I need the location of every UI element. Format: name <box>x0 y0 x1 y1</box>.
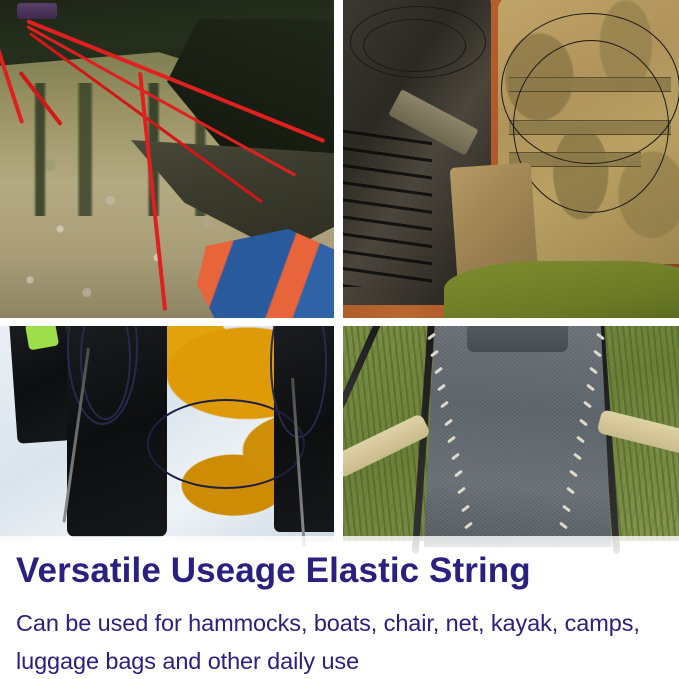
caption-headline: Versatile Useage Elastic String <box>16 552 663 590</box>
bungee-cord <box>363 19 466 72</box>
climbing-rope <box>147 399 305 489</box>
photo-hammock-tarp <box>0 0 334 318</box>
grid-gutter-horizontal <box>0 318 679 326</box>
photo-mountaineers-rope-image <box>0 326 334 541</box>
chair-headrest <box>467 326 568 352</box>
photo-tactical-bags <box>343 0 679 318</box>
caption-body-line-1: Can be used for hammocks, boats, chair, … <box>16 604 663 642</box>
bungee-cord <box>513 40 669 213</box>
cord-anchor-hardware <box>17 3 57 19</box>
photo-zero-gravity-chair-image <box>343 326 679 541</box>
caption-body: Can be used for hammocks, boats, chair, … <box>16 604 663 679</box>
caption-band: Versatile Useage Elastic String Can be u… <box>0 536 679 679</box>
photo-hammock-tarp-image <box>0 0 334 318</box>
green-duffel-bag <box>444 261 679 318</box>
product-feature-poster: Versatile Useage Elastic String Can be u… <box>0 0 679 679</box>
caption-body-line-2: luggage bags and other daily use <box>16 642 663 679</box>
photo-tactical-bags-image <box>343 0 679 318</box>
